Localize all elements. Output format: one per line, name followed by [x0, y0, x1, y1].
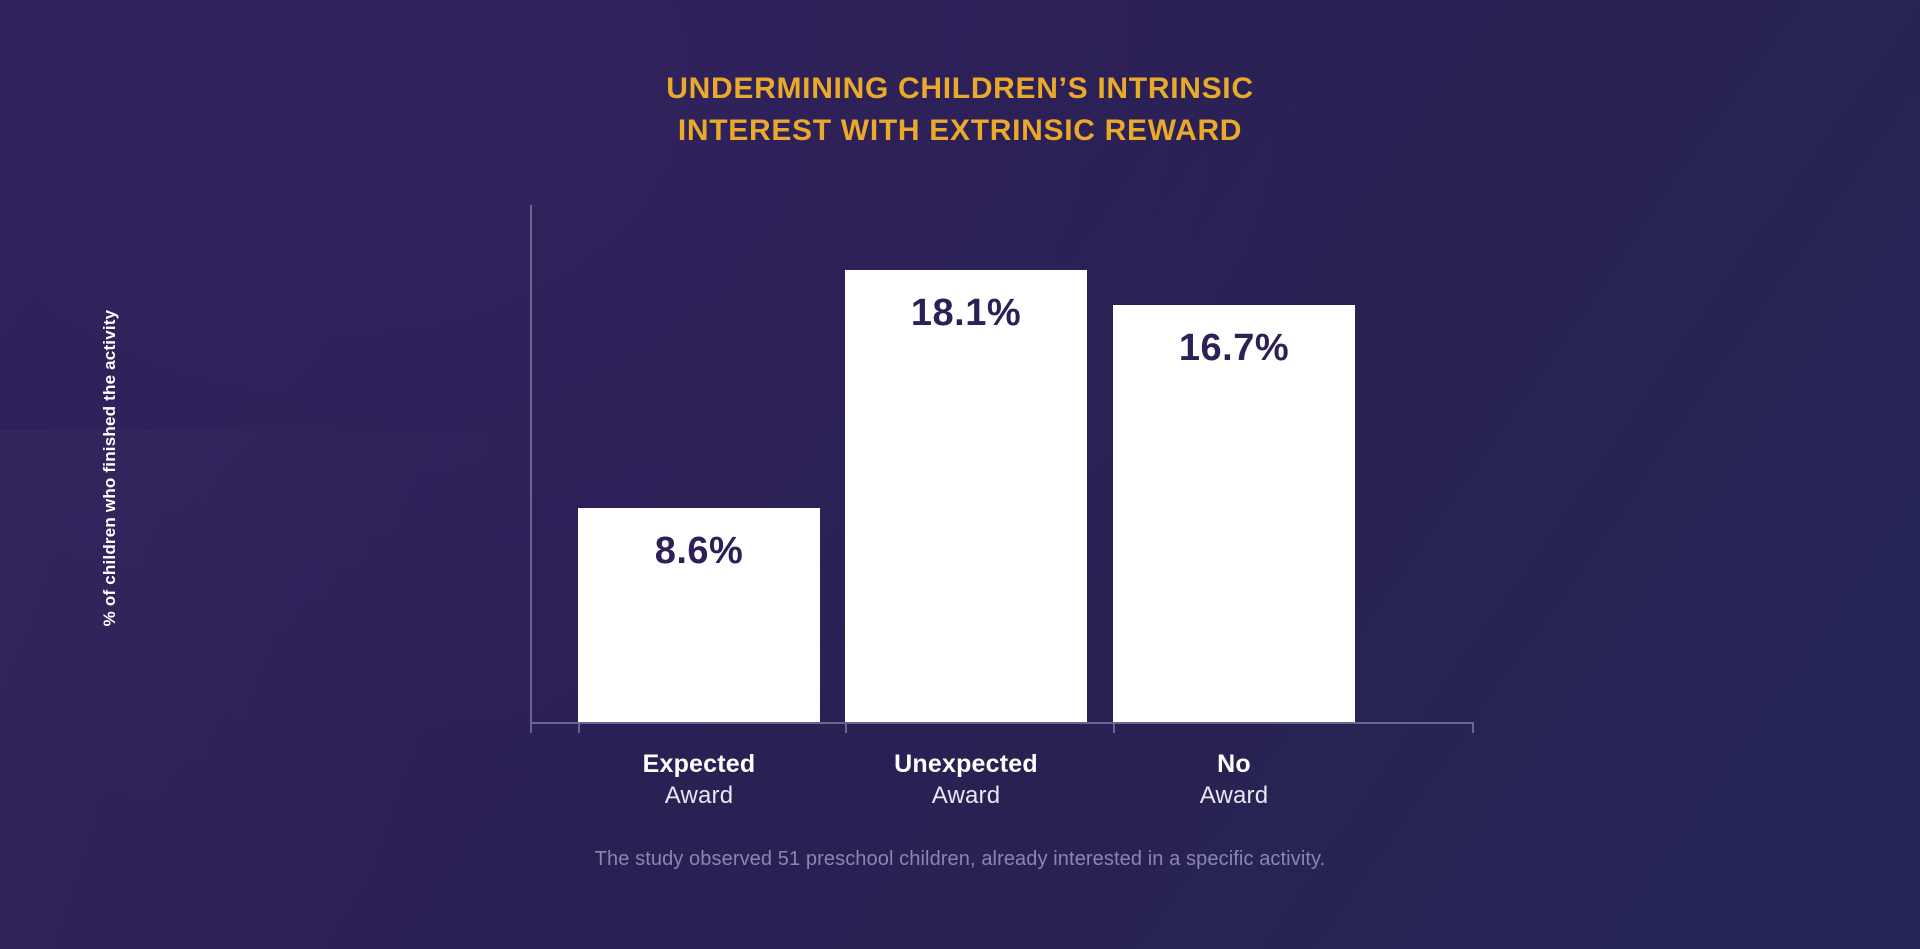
x-axis-tick-bar-3: [1113, 724, 1115, 733]
x-axis-tick-bar-2: [845, 724, 847, 733]
y-axis-line: [530, 205, 532, 724]
chart-footnote: The study observed 51 preschool children…: [0, 848, 1920, 871]
bar-expected-award[interactable]: 8.6%: [578, 508, 820, 722]
bar-chart-plot-area: % of children who finished the activity …: [0, 0, 1920, 949]
x-axis-tick-end: [1472, 724, 1474, 733]
bar-unexpected-award[interactable]: 18.1%: [845, 270, 1087, 722]
x-axis-category-no-award: No Award: [1113, 748, 1355, 812]
category-label-secondary-1: Award: [578, 780, 820, 812]
category-label-primary-3: No: [1113, 748, 1355, 780]
category-label-secondary-3: Award: [1113, 780, 1355, 812]
bar-value-label-3: 16.7%: [1113, 327, 1355, 370]
bar-value-label-1: 8.6%: [578, 530, 820, 573]
category-label-secondary-2: Award: [845, 780, 1087, 812]
x-axis-category-unexpected-award: Unexpected Award: [845, 748, 1087, 812]
y-axis-label: % of children who finished the activity: [100, 208, 120, 728]
bar-value-label-2: 18.1%: [845, 292, 1087, 335]
x-axis-category-expected-award: Expected Award: [578, 748, 820, 812]
bar-no-award[interactable]: 16.7%: [1113, 305, 1355, 722]
category-label-primary-1: Expected: [578, 748, 820, 780]
category-label-primary-2: Unexpected: [845, 748, 1087, 780]
x-axis-tick-start: [530, 724, 532, 733]
x-axis-tick-bar-1: [578, 724, 580, 733]
x-axis-line: [530, 722, 1474, 724]
